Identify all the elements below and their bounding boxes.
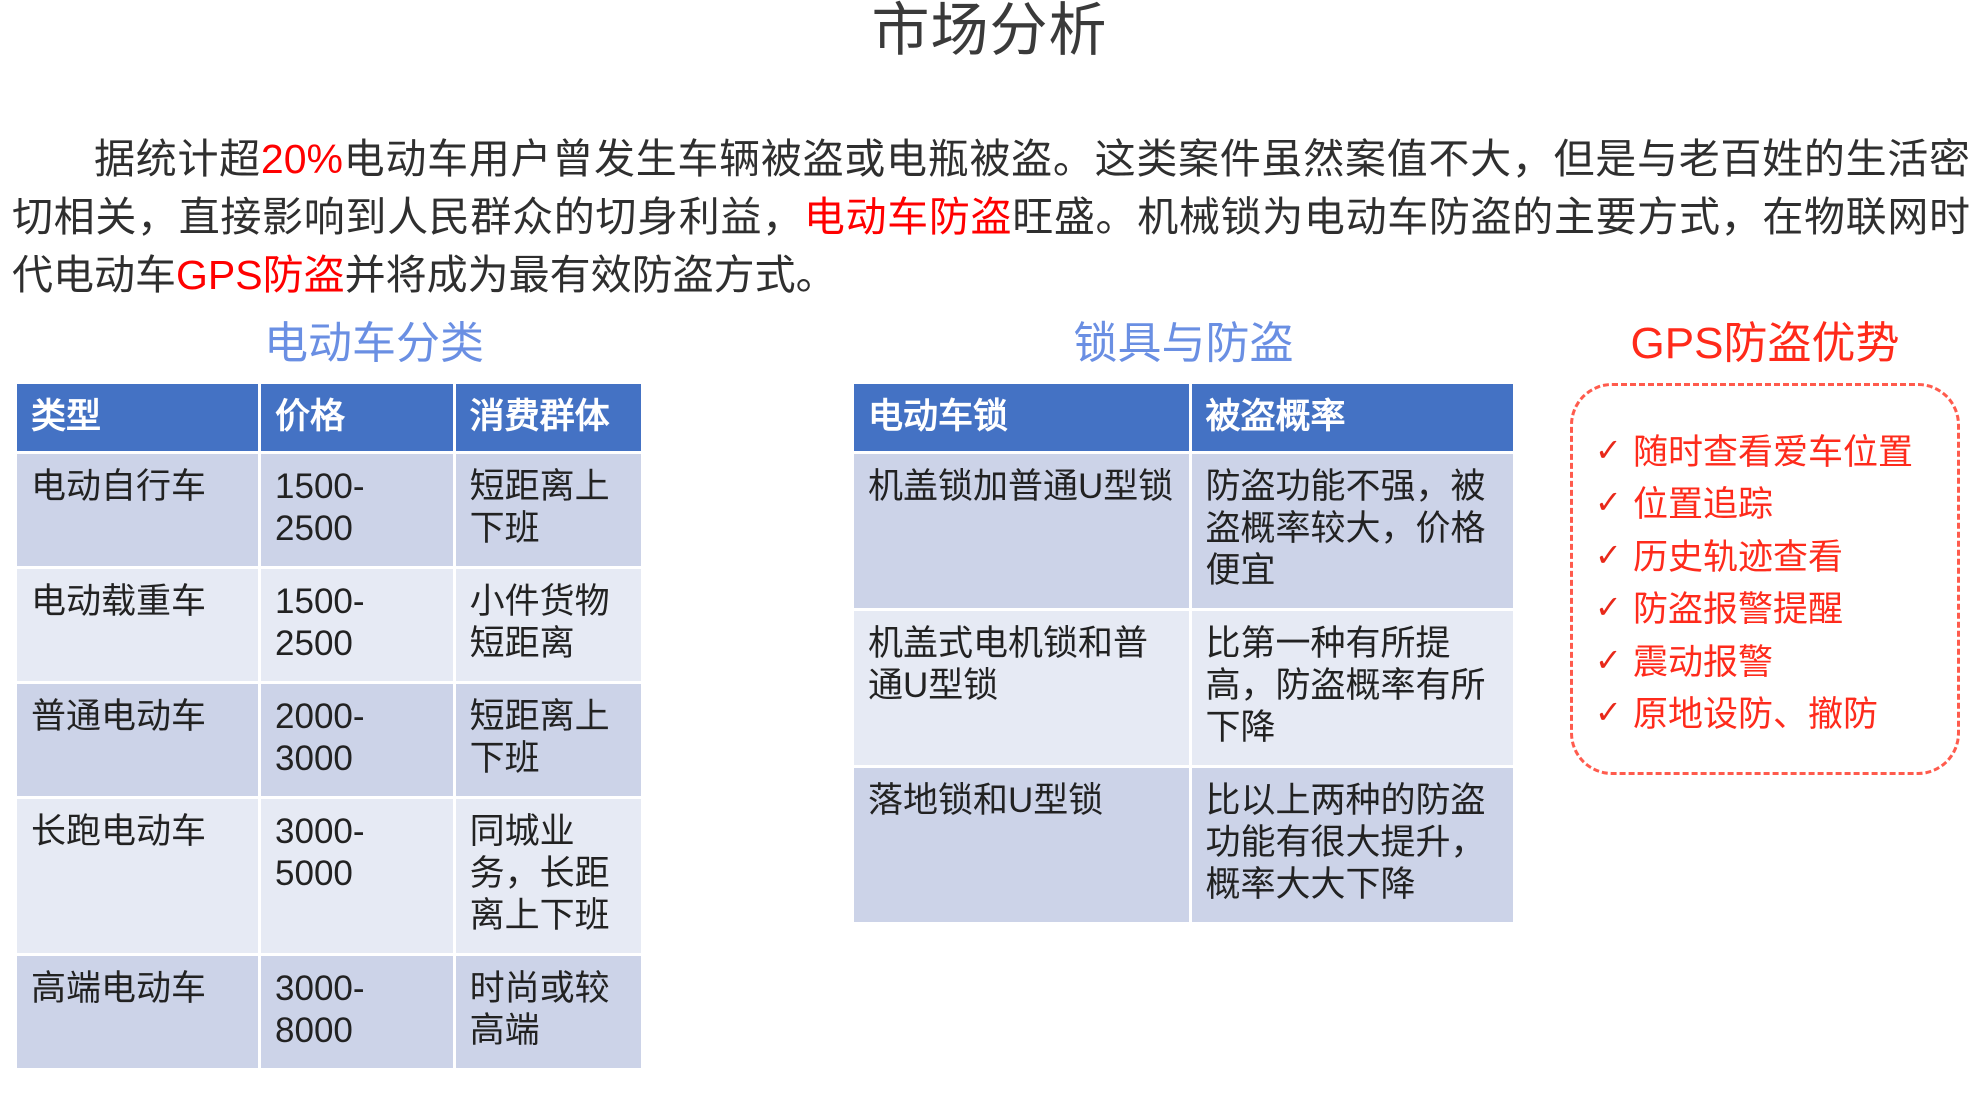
list-item: ✓ 原地设防、撤防 <box>1595 692 1941 738</box>
cell-price: 2000-3000 <box>261 684 453 796</box>
list-item: ✓ 随时查看爱车位置 <box>1595 430 1941 476</box>
paragraph-highlight-gps: GPS防盗 <box>176 252 345 298</box>
cell-theft-probability: 比以上两种的防盗功能有很大提升，概率大大下降 <box>1192 768 1513 922</box>
table-row: 机盖式电机锁和普通U型锁 比第一种有所提高，防盗概率有所下降 <box>854 611 1513 765</box>
cell-type: 高端电动车 <box>17 956 258 1068</box>
paragraph-highlight-percent: 20% <box>261 136 343 182</box>
panel-vehicle-classification: 电动车分类 类型 价格 消费群体 电动自行车 1500-2500 短距离上下班 … <box>14 318 644 1071</box>
check-icon: ✓ <box>1595 640 1633 682</box>
list-item: ✓ 位置追踪 <box>1595 482 1941 528</box>
cell-audience: 短距离上下班 <box>456 684 641 796</box>
page-title: 市场分析 <box>0 0 1979 66</box>
column-header-price: 价格 <box>261 384 453 451</box>
cell-audience: 同城业务，长距离上下班 <box>456 799 641 953</box>
table-row: 高端电动车 3000-8000 时尚或较高端 <box>17 956 641 1068</box>
list-item-label: 震动报警 <box>1633 640 1941 686</box>
cell-price: 1500-2500 <box>261 454 453 566</box>
table-row: 长跑电动车 3000-5000 同城业务，长距离上下班 <box>17 799 641 953</box>
check-icon: ✓ <box>1595 587 1633 629</box>
heading-vehicle-classification: 电动车分类 <box>14 318 644 371</box>
column-header-theft-probability: 被盗概率 <box>1192 384 1513 451</box>
heading-gps-advantages: GPS防盗优势 <box>1570 318 1960 371</box>
table-row: 电动载重车 1500-2500 小件货物短距离 <box>17 569 641 681</box>
panel-gps-advantages: GPS防盗优势 ✓ 随时查看爱车位置 ✓ 位置追踪 ✓ 历史轨迹查看 ✓ 防盗报… <box>1570 318 1960 775</box>
table-row: 普通电动车 2000-3000 短距离上下班 <box>17 684 641 796</box>
cell-lock: 机盖式电机锁和普通U型锁 <box>854 611 1189 765</box>
paragraph-segment-7: 并将成为最有效防盗方式。 <box>345 252 837 298</box>
gps-advantages-box: ✓ 随时查看爱车位置 ✓ 位置追踪 ✓ 历史轨迹查看 ✓ 防盗报警提醒 ✓ <box>1570 383 1960 775</box>
table-row: 电动自行车 1500-2500 短距离上下班 <box>17 454 641 566</box>
heading-locks-and-theft: 锁具与防盗 <box>851 318 1516 371</box>
cell-audience: 时尚或较高端 <box>456 956 641 1068</box>
check-icon: ✓ <box>1595 430 1633 472</box>
column-header-type: 类型 <box>17 384 258 451</box>
list-item-label: 防盗报警提醒 <box>1633 587 1941 633</box>
cell-theft-probability: 防盗功能不强，被盗概率较大，价格便宜 <box>1192 454 1513 608</box>
check-icon: ✓ <box>1595 692 1633 734</box>
cell-audience: 短距离上下班 <box>456 454 641 566</box>
table-header-row: 电动车锁 被盗概率 <box>854 384 1513 451</box>
table-row: 落地锁和U型锁 比以上两种的防盗功能有很大提升，概率大大下降 <box>854 768 1513 922</box>
list-item-label: 原地设防、撤防 <box>1633 692 1941 738</box>
cell-theft-probability: 比第一种有所提高，防盗概率有所下降 <box>1192 611 1513 765</box>
table-header-row: 类型 价格 消费群体 <box>17 384 641 451</box>
cell-lock: 机盖锁加普通U型锁 <box>854 454 1189 608</box>
cell-price: 1500-2500 <box>261 569 453 681</box>
list-item-label: 位置追踪 <box>1633 482 1941 528</box>
list-item-label: 随时查看爱车位置 <box>1633 430 1941 476</box>
intro-paragraph: 据统计超20%电动车用户曾发生车辆被盗或电瓶被盗。这类案件虽然案值不大，但是与老… <box>12 130 1970 305</box>
list-item: ✓ 历史轨迹查看 <box>1595 535 1941 581</box>
check-icon: ✓ <box>1595 535 1633 577</box>
cell-type: 电动自行车 <box>17 454 258 566</box>
paragraph-segment-1: 据统计超 <box>94 136 261 182</box>
cell-price: 3000-5000 <box>261 799 453 953</box>
cell-lock: 落地锁和U型锁 <box>854 768 1189 922</box>
cell-type: 长跑电动车 <box>17 799 258 953</box>
table-vehicle-classification: 类型 价格 消费群体 电动自行车 1500-2500 短距离上下班 电动载重车 … <box>14 381 644 1071</box>
paragraph-highlight-antitheft: 电动车防盗 <box>804 194 1012 240</box>
cell-audience: 小件货物短距离 <box>456 569 641 681</box>
cell-type: 普通电动车 <box>17 684 258 796</box>
table-row: 机盖锁加普通U型锁 防盗功能不强，被盗概率较大，价格便宜 <box>854 454 1513 608</box>
list-item-label: 历史轨迹查看 <box>1633 535 1941 581</box>
table-locks-and-theft: 电动车锁 被盗概率 机盖锁加普通U型锁 防盗功能不强，被盗概率较大，价格便宜 机… <box>851 381 1516 925</box>
list-item: ✓ 防盗报警提醒 <box>1595 587 1941 633</box>
list-item: ✓ 震动报警 <box>1595 640 1941 686</box>
panel-locks-and-theft: 锁具与防盗 电动车锁 被盗概率 机盖锁加普通U型锁 防盗功能不强，被盗概率较大，… <box>851 318 1516 925</box>
cell-type: 电动载重车 <box>17 569 258 681</box>
gps-advantages-list: ✓ 随时查看爱车位置 ✓ 位置追踪 ✓ 历史轨迹查看 ✓ 防盗报警提醒 ✓ <box>1595 430 1941 738</box>
column-header-lock: 电动车锁 <box>854 384 1189 451</box>
cell-price: 3000-8000 <box>261 956 453 1068</box>
check-icon: ✓ <box>1595 482 1633 524</box>
column-header-audience: 消费群体 <box>456 384 641 451</box>
